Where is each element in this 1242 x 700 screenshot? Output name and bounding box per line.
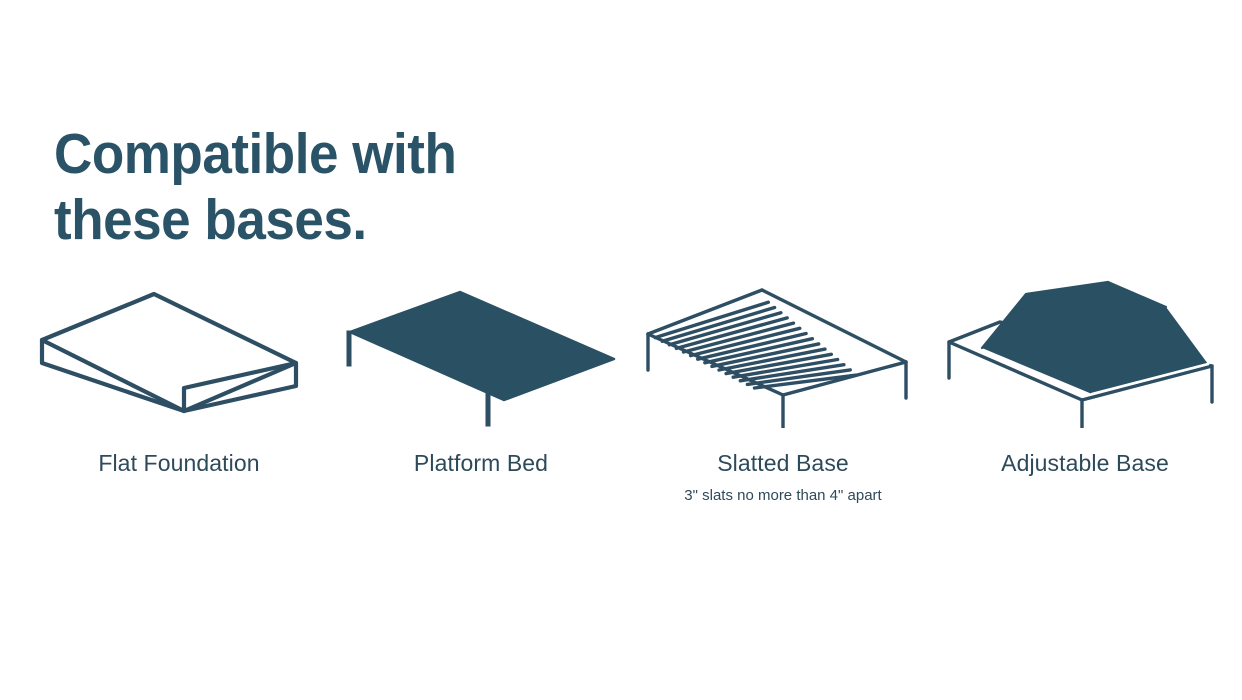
page-title: Compatible with these bases.: [54, 122, 649, 253]
base-label: Adjustable Base: [1001, 450, 1169, 477]
page-title-line-2: these bases.: [54, 188, 649, 254]
base-label: Platform Bed: [414, 450, 548, 477]
slatted-base-icon: [638, 278, 928, 428]
page-title-line-1: Compatible with: [54, 122, 649, 188]
compatible-bases-section: Compatible with these bases. Flat Founda…: [0, 0, 1242, 700]
base-label: Slatted Base: [717, 450, 849, 477]
base-item-adjustable-base: Adjustable Base: [934, 278, 1236, 487]
adjustable-base-icon: [940, 278, 1230, 428]
base-types-list: Flat Foundation Platform Bed: [0, 278, 1242, 528]
base-item-flat-foundation: Flat Foundation: [28, 278, 330, 487]
platform-bed-icon: [336, 278, 626, 428]
base-item-platform-bed: Platform Bed: [330, 278, 632, 487]
base-label: Flat Foundation: [98, 450, 259, 477]
flat-foundation-icon: [34, 278, 324, 428]
base-item-slatted-base: Slatted Base 3" slats no more than 4" ap…: [632, 278, 934, 504]
base-note: 3" slats no more than 4" apart: [684, 487, 881, 504]
